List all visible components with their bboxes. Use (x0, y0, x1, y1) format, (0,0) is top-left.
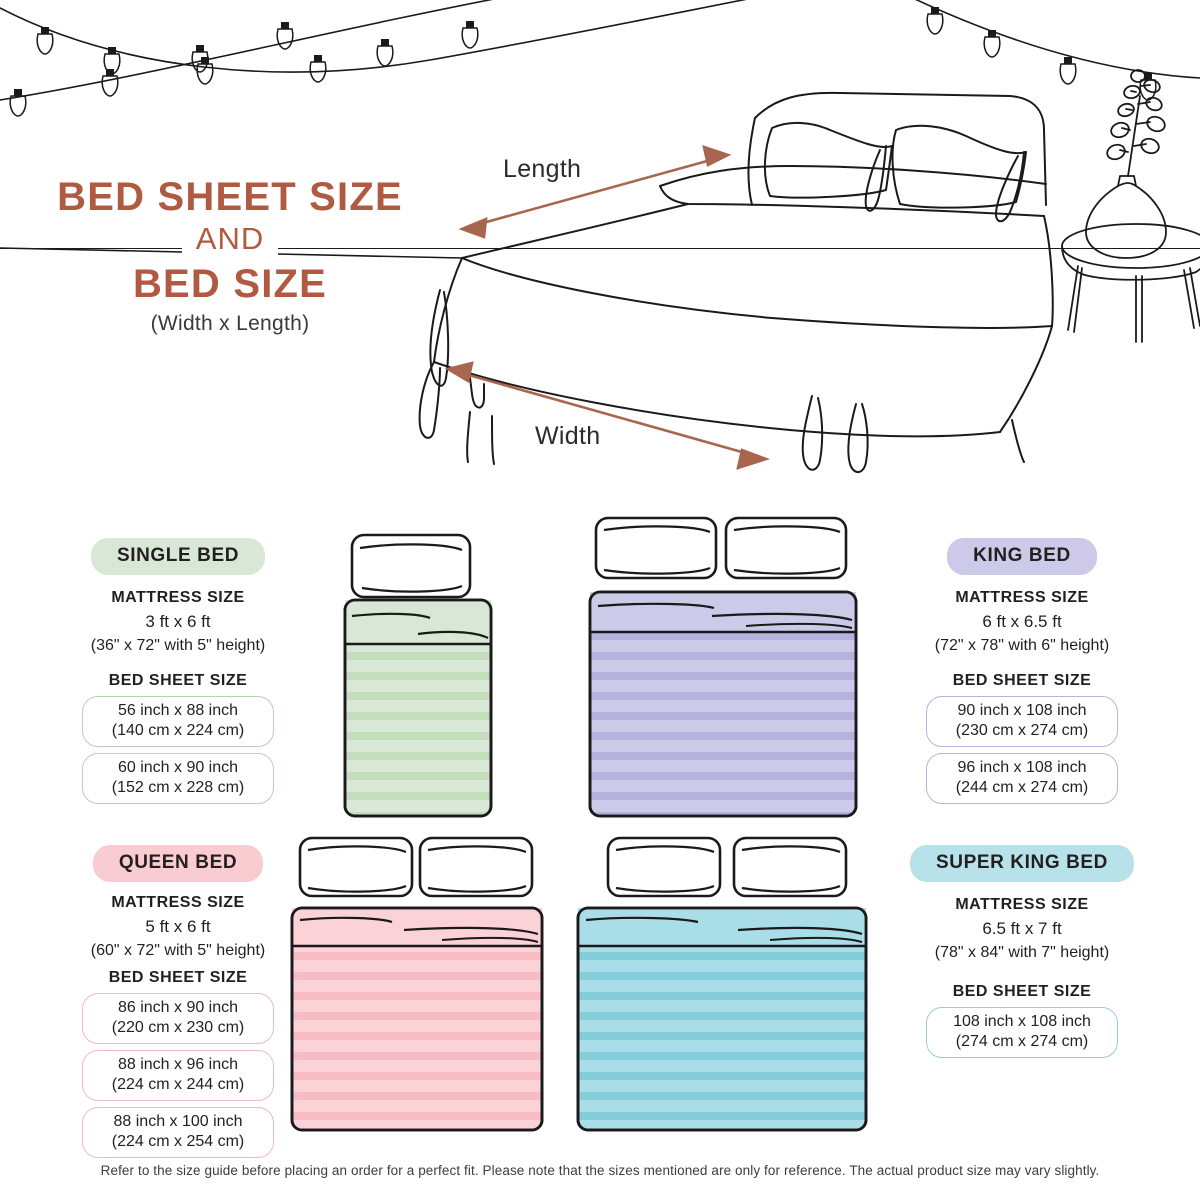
sheet-size-cm: (230 cm x 274 cm) (933, 721, 1111, 741)
mattress-size-heading-single: MATTRESS SIZE (28, 589, 328, 607)
sheet-size-inch: 108 inch x 108 inch (933, 1012, 1111, 1032)
badge-single-bed: SINGLE BED (91, 538, 265, 575)
mattress-size-heading-queen: MATTRESS SIZE (28, 894, 328, 912)
sheet-size-heading-superking: BED SHEET SIZE (872, 983, 1172, 1001)
sheet-size-heading-single: BED SHEET SIZE (28, 672, 328, 690)
sheet-size-inch: 88 inch x 96 inch (89, 1055, 267, 1075)
sheet-size-heading-queen: BED SHEET SIZE (28, 969, 328, 987)
mattress-size-heading-superking: MATTRESS SIZE (872, 896, 1172, 914)
sheet-size-cm: (140 cm x 224 cm) (89, 721, 267, 741)
sheet-size-cm: (244 cm x 274 cm) (933, 778, 1111, 798)
panel-queen-bed: QUEEN BED MATTRESS SIZE 5 ft x 6 ft (60"… (28, 845, 328, 1158)
panel-super-king-bed: SUPER KING BED MATTRESS SIZE 6.5 ft x 7 … (872, 845, 1172, 1058)
sheet-size-option[interactable]: 90 inch x 108 inch (230 cm x 274 cm) (926, 696, 1118, 747)
sheet-size-list-queen: 86 inch x 90 inch (220 cm x 230 cm) 88 i… (28, 993, 328, 1158)
sheet-size-list-single: 56 inch x 88 inch (140 cm x 224 cm) 60 i… (28, 696, 328, 804)
sheet-size-inch: 56 inch x 88 inch (89, 701, 267, 721)
mattress-inches-queen: (60" x 72" with 5" height) (28, 941, 328, 961)
sheet-size-option[interactable]: 60 inch x 90 inch (152 cm x 228 cm) (82, 753, 274, 804)
sheet-size-cm: (224 cm x 244 cm) (89, 1075, 267, 1095)
mattress-feet-queen: 5 ft x 6 ft (28, 916, 328, 937)
sheet-size-heading-king: BED SHEET SIZE (872, 672, 1172, 690)
hero-width-label: Width (535, 422, 600, 451)
sheet-size-option[interactable]: 56 inch x 88 inch (140 cm x 224 cm) (82, 696, 274, 747)
sheet-size-cm: (224 cm x 254 cm) (89, 1132, 267, 1152)
mattress-feet-superking: 6.5 ft x 7 ft (872, 918, 1172, 939)
hero-length-label: Length (503, 155, 581, 184)
sheet-size-option[interactable]: 88 inch x 96 inch (224 cm x 244 cm) (82, 1050, 274, 1101)
panel-king-bed: KING BED MATTRESS SIZE 6 ft x 6.5 ft (72… (872, 538, 1172, 804)
sheet-size-option[interactable]: 96 inch x 108 inch (244 cm x 274 cm) (926, 753, 1118, 804)
sheet-size-inch: 90 inch x 108 inch (933, 701, 1111, 721)
sheet-size-option[interactable]: 86 inch x 90 inch (220 cm x 230 cm) (82, 993, 274, 1044)
panel-single-bed: SINGLE BED MATTRESS SIZE 3 ft x 6 ft (36… (28, 538, 328, 804)
sheet-size-list-superking: 108 inch x 108 inch (274 cm x 274 cm) (872, 1007, 1172, 1058)
mattress-feet-single: 3 ft x 6 ft (28, 611, 328, 632)
sheet-size-cm: (274 cm x 274 cm) (933, 1032, 1111, 1052)
sheet-size-list-king: 90 inch x 108 inch (230 cm x 274 cm) 96 … (872, 696, 1172, 804)
badge-queen-bed: QUEEN BED (93, 845, 263, 882)
sheet-size-option[interactable]: 88 inch x 100 inch (224 cm x 254 cm) (82, 1107, 274, 1158)
page-title: BED SHEET SIZE AND BED SIZE (Width x Len… (30, 176, 430, 336)
title-conjunction: AND (182, 218, 278, 260)
sheet-size-inch: 86 inch x 90 inch (89, 998, 267, 1018)
sheet-size-inch: 88 inch x 100 inch (89, 1112, 267, 1132)
title-line-2: BED SIZE (30, 262, 430, 306)
infographic-canvas: BED SHEET SIZE AND BED SIZE (Width x Len… (0, 0, 1200, 1200)
mattress-feet-king: 6 ft x 6.5 ft (872, 611, 1172, 632)
mattress-inches-superking: (78" x 84" with 7" height) (872, 943, 1172, 963)
mattress-inches-single: (36" x 72" with 5" height) (28, 636, 328, 656)
sheet-size-option[interactable]: 108 inch x 108 inch (274 cm x 274 cm) (926, 1007, 1118, 1058)
mattress-size-heading-king: MATTRESS SIZE (872, 589, 1172, 607)
badge-king-bed: KING BED (947, 538, 1097, 575)
badge-super-king-bed: SUPER KING BED (910, 845, 1134, 882)
sheet-size-inch: 96 inch x 108 inch (933, 758, 1111, 778)
footer-disclaimer: Refer to the size guide before placing a… (0, 1163, 1200, 1178)
mattress-inches-king: (72" x 78" with 6" height) (872, 636, 1172, 656)
sheet-size-cm: (220 cm x 230 cm) (89, 1018, 267, 1038)
sheet-size-cm: (152 cm x 228 cm) (89, 778, 267, 798)
sheet-size-inch: 60 inch x 90 inch (89, 758, 267, 778)
title-line-1: BED SHEET SIZE (30, 176, 430, 218)
title-subtitle: (Width x Length) (30, 312, 430, 336)
